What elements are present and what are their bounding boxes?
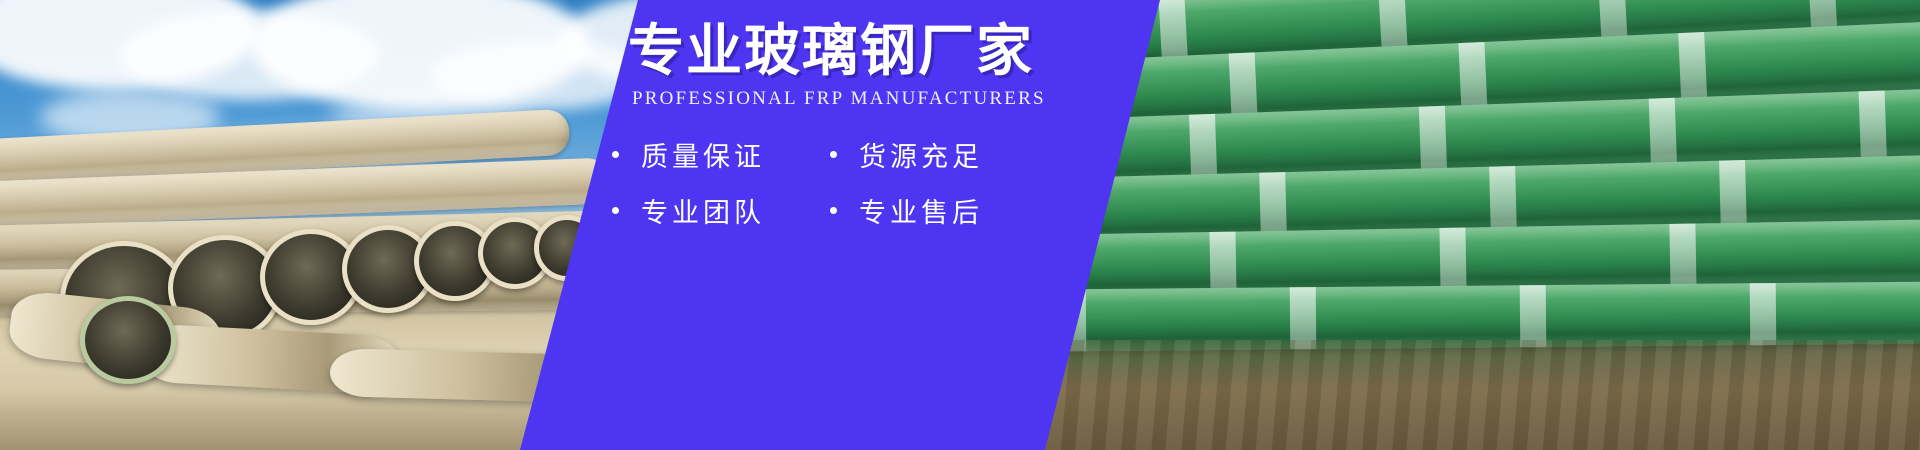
feature-row: 专业团队 专业售后 — [612, 182, 1112, 238]
pipe-strap — [1859, 90, 1887, 159]
promo-panel-content: 专业玻璃钢厂家 PROFESSIONAL FRP MANUFACTURERS 质… — [520, 0, 1160, 450]
bullet-dot-icon — [830, 151, 837, 158]
pipe-strap — [1669, 224, 1696, 288]
feature-label: 专业售后 — [859, 191, 983, 230]
pipe-strap — [1750, 283, 1777, 345]
pipe-strap — [1520, 285, 1547, 347]
bullet-dot-icon — [830, 207, 837, 214]
bullet-dot-icon — [612, 207, 619, 214]
feature-row: 质量保证 货源充足 — [612, 126, 1112, 182]
feature-item-quality: 质量保证 — [612, 126, 830, 182]
pipe-strap — [1189, 114, 1217, 183]
pipe-strap — [1209, 232, 1236, 296]
pipe-strap — [1439, 228, 1466, 292]
bullet-dot-icon — [612, 151, 619, 158]
subtitle-english: PROFESSIONAL FRP MANUFACTURERS — [632, 88, 1046, 110]
page-title: 专业玻璃钢厂家 — [628, 24, 1034, 80]
feature-item-supply: 货源充足 — [830, 126, 983, 182]
promo-banner: 专业玻璃钢厂家 PROFESSIONAL FRP MANUFACTURERS 质… — [0, 0, 1920, 450]
feature-label: 货源充足 — [859, 135, 983, 174]
feature-label: 专业团队 — [641, 191, 765, 230]
feature-list: 质量保证 货源充足 专业团队 专业售后 — [612, 126, 1112, 238]
pipe-strap — [1678, 32, 1707, 103]
pipe-strap — [1259, 172, 1287, 239]
feature-item-aftersales: 专业售后 — [830, 182, 983, 238]
feature-label: 质量保证 — [641, 135, 765, 174]
pipe-opening — [80, 296, 176, 384]
pipe-strap — [1419, 106, 1447, 175]
pipe-strap — [1649, 98, 1677, 167]
pipe-strap — [1489, 166, 1517, 233]
pipe-strap — [1719, 160, 1747, 227]
pipe-strap — [1458, 42, 1487, 113]
feature-item-team: 专业团队 — [612, 182, 830, 238]
